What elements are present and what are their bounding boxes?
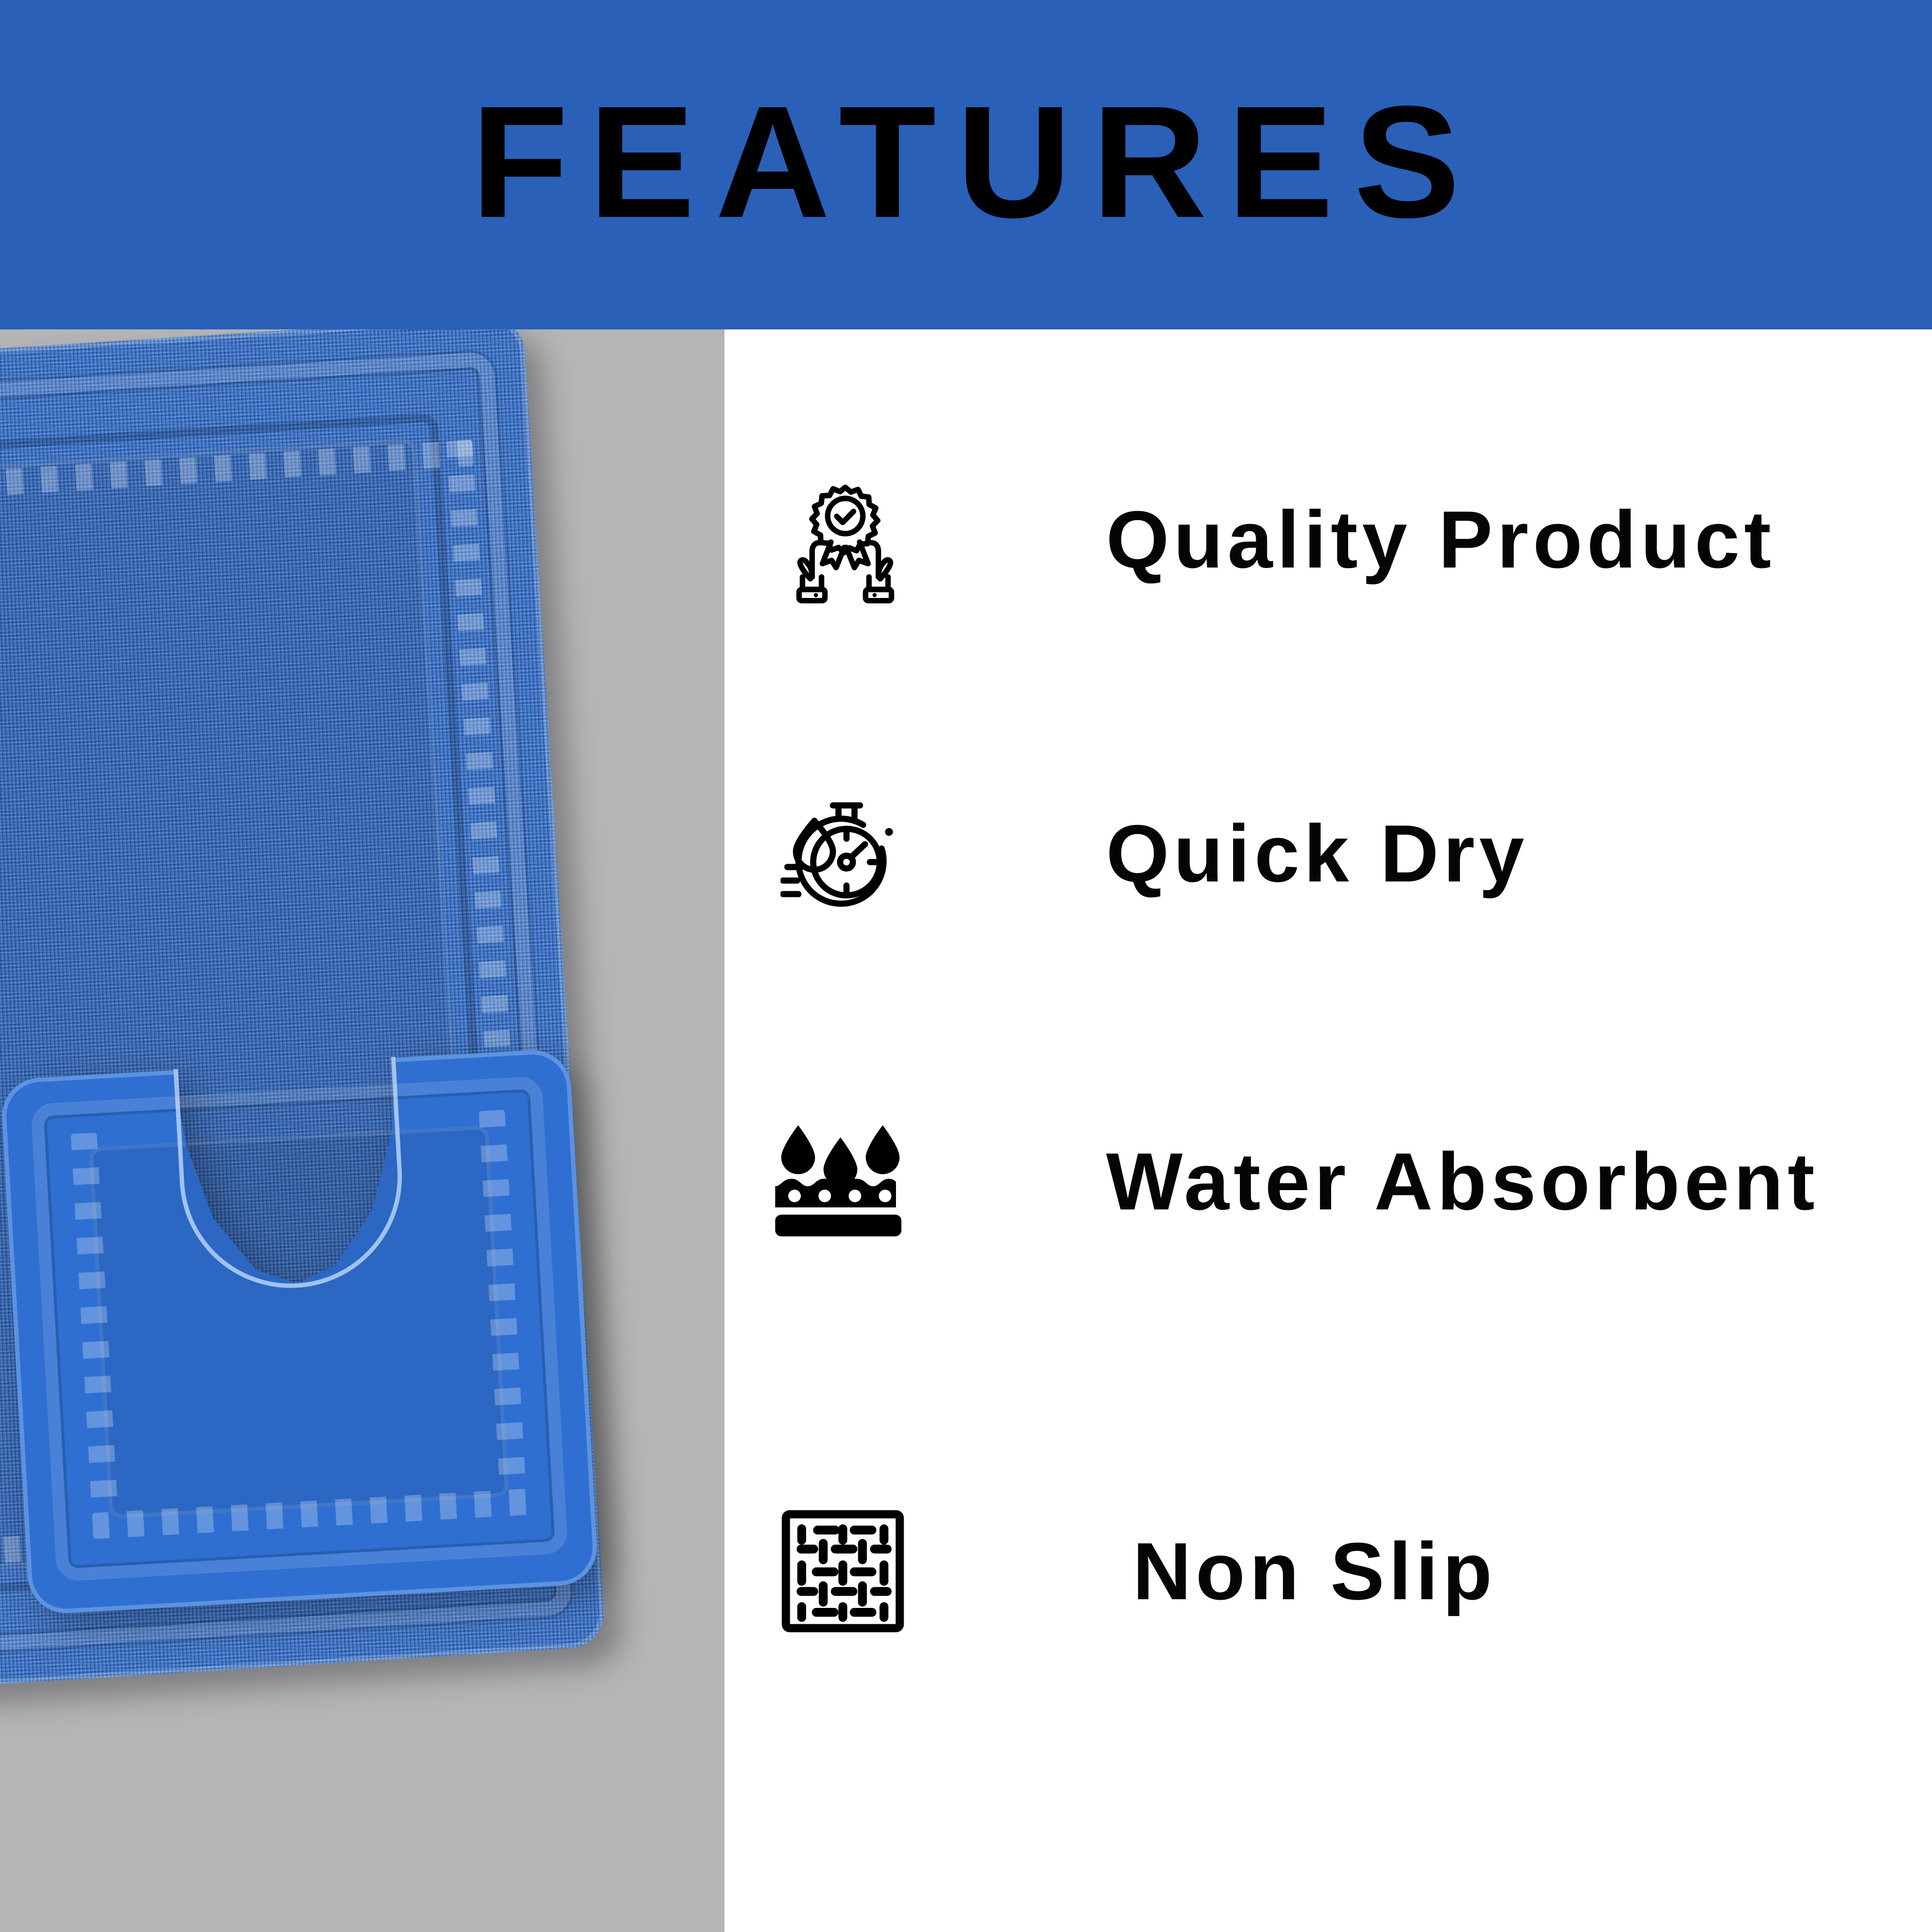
feature-row-quick-dry: Quick Dry [724,793,1932,914]
product-photo-panel [0,329,724,1932]
stopwatch-water-drop-icon [773,793,918,914]
hands-holding-award-badge-icon [773,474,918,605]
page-title: FEATURES [471,82,1480,241]
header-banner: FEATURES [0,0,1932,329]
water-drops-absorbent-layer-icon [768,1122,913,1241]
feature-label-quality-product: Quality Product [1106,499,1776,580]
feature-label-quick-dry: Quick Dry [1106,813,1529,894]
feature-label-water-absorbent: Water Absorbent [1106,1141,1819,1222]
contour-pedestal-mat [0,1048,599,1615]
anti-slip-grid-texture-icon [770,1508,915,1634]
feature-label-non-slip: Non Slip [1133,1531,1496,1612]
infographic-page: FEATURES [0,0,1932,1932]
feature-row-water-absorbent: Water Absorbent [724,1122,1932,1241]
feature-row-quality-product: Quality Product [724,474,1932,605]
feature-row-non-slip: Non Slip [724,1508,1932,1634]
feature-list: Quality Product [724,329,1932,1932]
